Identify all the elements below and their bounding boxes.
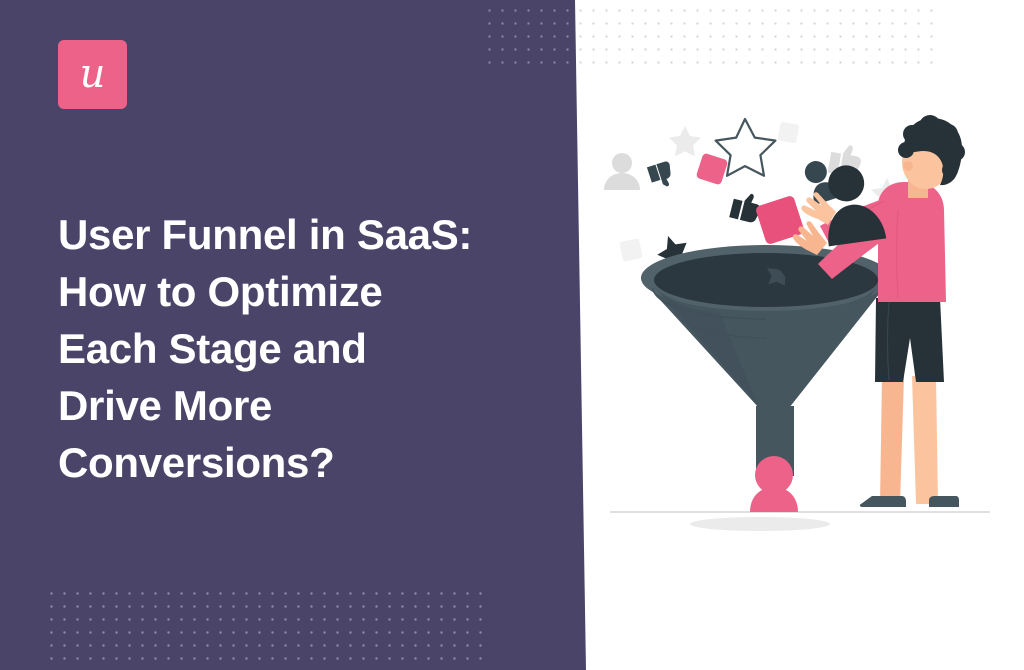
person-front-leg (912, 376, 938, 504)
person-shirt (878, 182, 946, 302)
person-hair-curl-4 (947, 143, 965, 161)
square-icon-pink-small (696, 153, 729, 186)
square-icon-grey-top (777, 122, 799, 144)
ground-shadow (690, 517, 830, 531)
brand-logo: u (58, 40, 127, 109)
funnel (641, 245, 891, 476)
user-icon-grey-left (604, 153, 640, 190)
person-hair-curl-1 (903, 125, 921, 143)
person-back-shoe (860, 496, 906, 507)
person-hair-curl-5 (942, 162, 958, 178)
blog-cover: u User Funnel in SaaS: How to Optimize E… (0, 0, 1024, 670)
person-hair-curl-2 (919, 115, 941, 137)
person-hair-curl-3 (938, 124, 958, 144)
brand-logo-glyph: u (80, 54, 106, 94)
person-back-leg (880, 376, 904, 504)
thumbs-down-icon-dark (647, 160, 676, 190)
person-hair-curl-6 (898, 142, 914, 158)
star-icon-grey-top (669, 126, 701, 156)
person-shorts (875, 298, 944, 382)
funnel-illustration (590, 110, 1010, 560)
person-front-shoe (929, 496, 959, 507)
page-title: User Funnel in SaaS: How to Optimize Eac… (58, 206, 528, 491)
person-ear (903, 161, 913, 171)
square-icon-grey-left (619, 238, 643, 262)
